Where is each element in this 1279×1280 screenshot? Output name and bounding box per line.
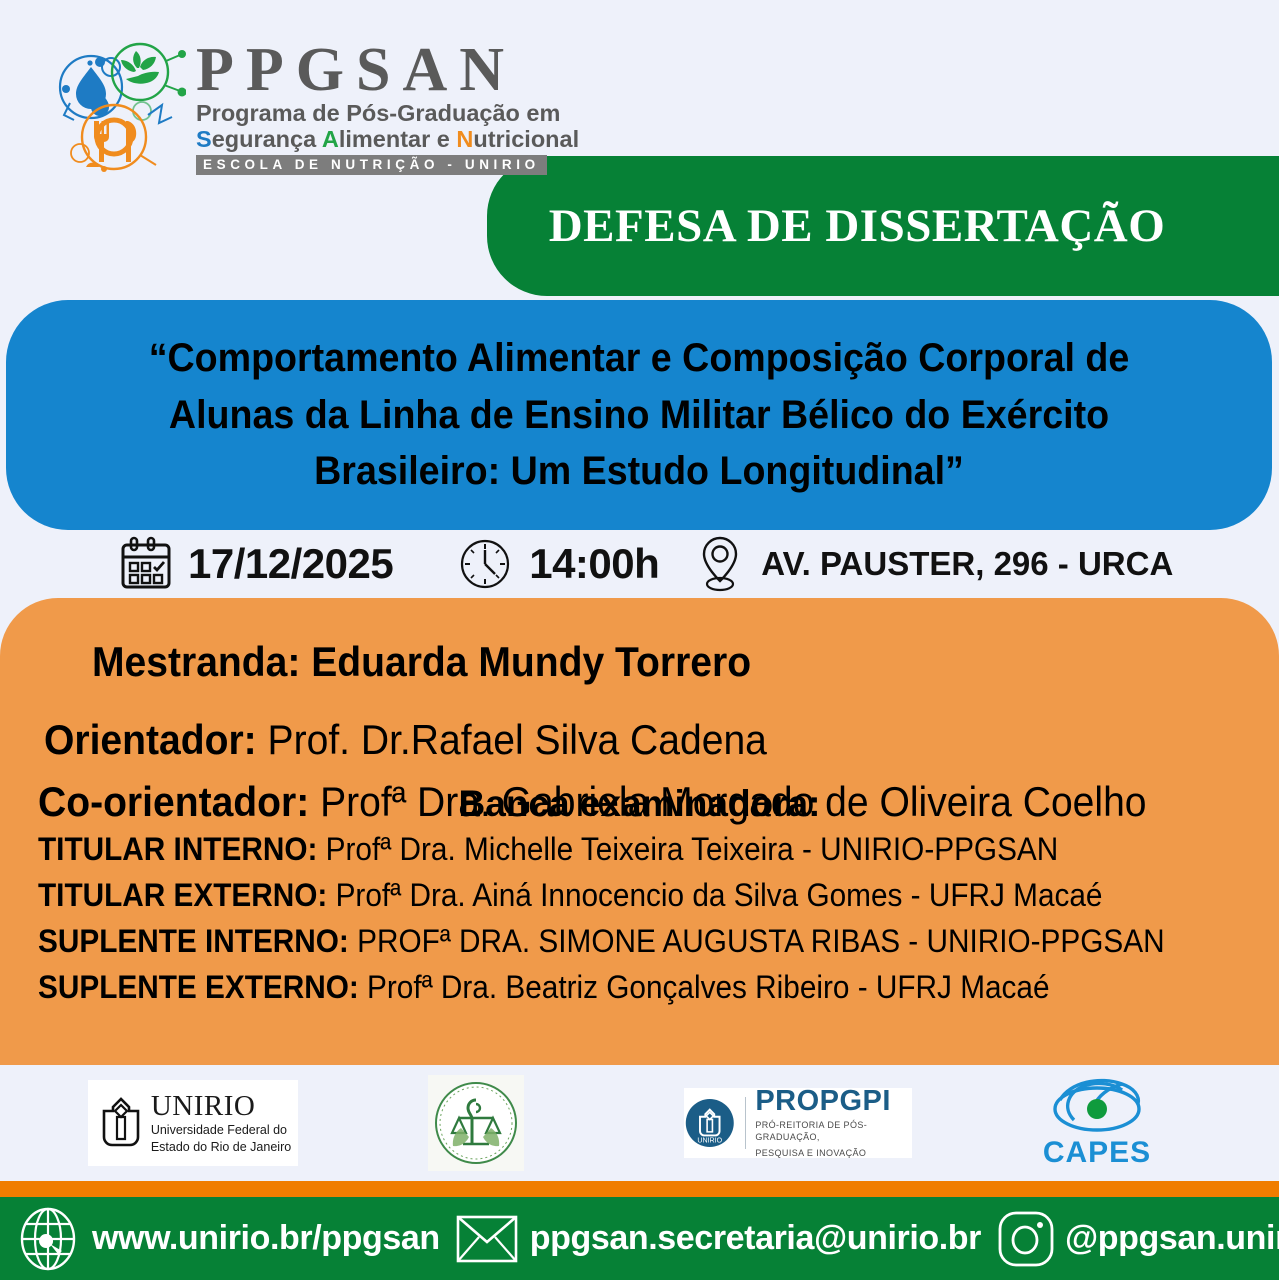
- tagline-a: A: [322, 126, 339, 152]
- event-time: 14:00h: [459, 538, 659, 590]
- ppgsan-emblem-icon: [36, 41, 186, 176]
- tagline-n: N: [456, 126, 473, 152]
- escola-nutricao-logo: [428, 1075, 524, 1171]
- event-date-value: 17/12/2025: [188, 540, 393, 588]
- unirio-text-block: UNIRIO Universidade Federal do Estado do…: [151, 1092, 291, 1155]
- thesis-title-banner: “Comportamento Alimentar e Composição Co…: [6, 300, 1272, 530]
- escola-nutricao-seal-icon: [431, 1078, 521, 1168]
- footer-website-text: www.unirio.br/ppgsan: [92, 1219, 440, 1258]
- ppgsan-tagline-line2: Segurança Alimentar e Nutricional: [196, 126, 579, 152]
- propgpi-divider: [745, 1097, 747, 1149]
- propgpi-subtitle-line1: PRÓ-REITORIA DE PÓS-GRADUAÇÃO,: [755, 1119, 912, 1143]
- mestranda-name: Eduarda Mundy Torrero: [311, 638, 751, 685]
- banca-member-row: SUPLENTE INTERNO: PROFª DRA. SIMONE AUGU…: [38, 921, 1168, 961]
- ppgsan-acronym: PPGSAN: [196, 41, 516, 100]
- event-time-value: 14:00h: [529, 540, 659, 588]
- banca-member-role: SUPLENTE INTERNO:: [38, 923, 349, 959]
- event-info-row: 17/12/2025 14:00h AV. PAUSTER, 296 - URC…: [0, 530, 1279, 598]
- propgpi-wordmark: UNIRIO PROPGPI PRÓ-REITORIA DE PÓS-GRADU…: [684, 1087, 912, 1158]
- location-pin-icon: [695, 535, 745, 593]
- capes-logo: CAPES: [1022, 1075, 1172, 1171]
- banca-member-row: TITULAR EXTERNO: Profª Dra. Ainá Innocen…: [38, 875, 1168, 915]
- banca-member-role: TITULAR INTERNO:: [38, 831, 317, 867]
- orientador-label: Orientador:: [44, 716, 257, 763]
- banca-member-row: SUPLENTE EXTERNO: Profª Dra. Beatriz Gon…: [38, 967, 1168, 1007]
- ppgsan-logo: PPGSAN Programa de Pós-Graduação em Segu…: [36, 38, 536, 178]
- banca-member-name: Profª Dra. Beatriz Gonçalves Ribeiro - U…: [367, 969, 1049, 1005]
- footer-website[interactable]: www.unirio.br/ppgsan: [16, 1206, 440, 1272]
- banca-member-name: Profª Dra. Michelle Teixeira Teixeira - …: [326, 831, 1059, 867]
- footer-contact-bar: www.unirio.br/ppgsan ppgsan.secretaria@u…: [0, 1197, 1279, 1280]
- orientador-row: Orientador: Prof. Dr.Rafael Silva Cadena: [44, 716, 1168, 764]
- banca-member-name: Profª Dra. Ainá Innocencio da Silva Gome…: [336, 877, 1103, 913]
- tagline-limentar: limentar e: [339, 126, 457, 152]
- event-location: AV. PAUSTER, 296 - URCA: [695, 535, 1173, 593]
- propgpi-badge-text: UNIRIO: [697, 1137, 722, 1145]
- thesis-title: “Comportamento Alimentar e Composição Co…: [94, 330, 1184, 500]
- footer-orange-stripe: [0, 1181, 1279, 1197]
- banca-member-role: SUPLENTE EXTERNO:: [38, 969, 359, 1005]
- tagline-eguranca: egurança: [212, 126, 322, 152]
- ppgsan-tagline-line1: Programa de Pós-Graduação em: [196, 100, 560, 126]
- details-panel: Mestranda: Eduarda Mundy Torrero Orienta…: [0, 598, 1279, 1065]
- footer-email-text: ppgsan.secretaria@unirio.br: [530, 1219, 981, 1258]
- mestranda-row: Mestranda: Eduarda Mundy Torrero: [92, 638, 1172, 686]
- defense-type-banner: DEFESA DE DISSERTAÇÃO: [487, 156, 1279, 296]
- event-date: 17/12/2025: [118, 536, 393, 592]
- mestranda-label: Mestranda:: [92, 638, 300, 685]
- orientador-name: Prof. Dr.Rafael Silva Cadena: [268, 716, 767, 763]
- unirio-name: UNIRIO: [151, 1092, 291, 1121]
- coorientador-name: Profª Dra. Gabriela Morgado de Oliveira …: [320, 778, 1146, 825]
- capes-emblem-icon: [1038, 1076, 1156, 1138]
- capes-wordmark: CAPES: [1038, 1076, 1156, 1170]
- event-location-value: AV. PAUSTER, 296 - URCA: [761, 545, 1173, 583]
- unirio-emblem-icon: [95, 1093, 147, 1153]
- propgpi-badge-icon: UNIRIO: [684, 1094, 736, 1152]
- unirio-subtitle-line2: Estado do Rio de Janeiro: [151, 1140, 291, 1155]
- banca-member-name: PROFª DRA. SIMONE AUGUSTA RIBAS - UNIRIO…: [357, 923, 1164, 959]
- capes-name: CAPES: [1043, 1136, 1151, 1170]
- calendar-icon: [118, 536, 174, 592]
- coorientador-label: Co-orientador:: [38, 778, 309, 825]
- footer-instagram[interactable]: @ppgsan.unirio: [997, 1210, 1279, 1268]
- unirio-subtitle-line1: Universidade Federal do: [151, 1123, 291, 1138]
- ppgsan-logo-text: PPGSAN Programa de Pós-Graduação em Segu…: [196, 41, 579, 175]
- propgpi-logo: UNIRIO PROPGPI PRÓ-REITORIA DE PÓS-GRADU…: [684, 1088, 912, 1158]
- clock-icon: [459, 538, 511, 590]
- propgpi-subtitle-line2: PESQUISA E INOVAÇÃO: [755, 1147, 912, 1159]
- unirio-wordmark: UNIRIO Universidade Federal do Estado do…: [95, 1092, 291, 1155]
- tagline-utricional: utricional: [473, 126, 579, 152]
- globe-icon: [16, 1206, 80, 1272]
- instagram-icon: [997, 1210, 1055, 1268]
- coorientador-row: Co-orientador: Profª Dra. Gabriela Morga…: [38, 776, 1168, 829]
- defense-type-label: DEFESA DE DISSERTAÇÃO: [549, 199, 1226, 253]
- tagline-s: S: [196, 126, 212, 152]
- footer-instagram-text: @ppgsan.unirio: [1065, 1219, 1279, 1258]
- propgpi-text-block: PROPGPI PRÓ-REITORIA DE PÓS-GRADUAÇÃO, P…: [755, 1087, 912, 1158]
- school-bar-label: ESCOLA DE NUTRIÇÃO - UNIRIO: [196, 155, 547, 175]
- banca-member-row: TITULAR INTERNO: Profª Dra. Michelle Tei…: [38, 829, 1168, 869]
- banca-member-role: TITULAR EXTERNO:: [38, 877, 327, 913]
- envelope-icon: [456, 1214, 518, 1264]
- footer-email[interactable]: ppgsan.secretaria@unirio.br: [456, 1214, 981, 1264]
- partner-logos-strip: UNIRIO Universidade Federal do Estado do…: [0, 1065, 1279, 1181]
- propgpi-name: PROPGPI: [755, 1087, 912, 1116]
- unirio-logo: UNIRIO Universidade Federal do Estado do…: [88, 1080, 298, 1166]
